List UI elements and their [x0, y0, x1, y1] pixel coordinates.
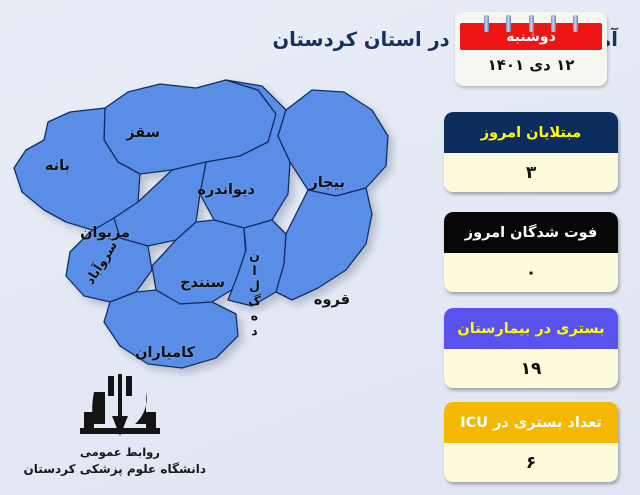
region-bijar [278, 90, 388, 196]
calendar-ring-icon [529, 15, 534, 32]
calendar-widget: دوشنبه ۱۲ دی ۱۴۰۱ [455, 12, 607, 86]
stat-value-cases-today: ۳ [444, 153, 618, 192]
kurdistan-province-map: سقز بانه دیواندره بیجار مریوان سنندج دهگ… [0, 70, 430, 400]
region-kamyaran [104, 290, 238, 368]
stat-label-hospitalized: بستری در بیمارستان [444, 308, 618, 349]
map-svg [0, 70, 430, 400]
map-shapes-group [14, 80, 388, 368]
logo-line-public-relations: روابط عمومی [34, 444, 206, 461]
calendar-ring-icon [551, 15, 556, 32]
stat-card-cases-today: مبتلایان امروز ۳ [444, 112, 618, 192]
organization-logo-block: روابط عمومی دانشگاه علوم پزشکی کردستان [34, 372, 206, 478]
stat-value-hospitalized: ۱۹ [444, 349, 618, 388]
university-logo-icon [72, 372, 168, 444]
infographic-root: آمار روزانه کرونا در استان کردستان [0, 0, 640, 495]
logo-line-university: دانشگاه علوم پزشکی کردستان [34, 461, 206, 478]
calendar-ring-icon [484, 15, 489, 32]
region-qorveh [276, 188, 372, 300]
stat-card-icu: تعداد بستری در ICU ۶ [444, 402, 618, 482]
stats-panel: دوشنبه ۱۲ دی ۱۴۰۱ مبتلایان امروز ۳ فوت ش… [430, 0, 640, 495]
stat-card-hospitalized: بستری در بیمارستان ۱۹ [444, 308, 618, 388]
calendar-ring-icon [573, 15, 578, 32]
calendar-ring-icon [506, 15, 511, 32]
calendar-rings [455, 15, 607, 33]
stat-value-deaths-today: ۰ [444, 253, 618, 292]
stat-label-cases-today: مبتلایان امروز [444, 112, 618, 153]
calendar-date-text: ۱۲ دی ۱۴۰۱ [455, 56, 607, 74]
stat-card-deaths-today: فوت شدگان امروز ۰ [444, 212, 618, 292]
stat-label-icu: تعداد بستری در ICU [444, 402, 618, 443]
stat-value-icu: ۶ [444, 443, 618, 482]
stat-label-deaths-today: فوت شدگان امروز [444, 212, 618, 253]
